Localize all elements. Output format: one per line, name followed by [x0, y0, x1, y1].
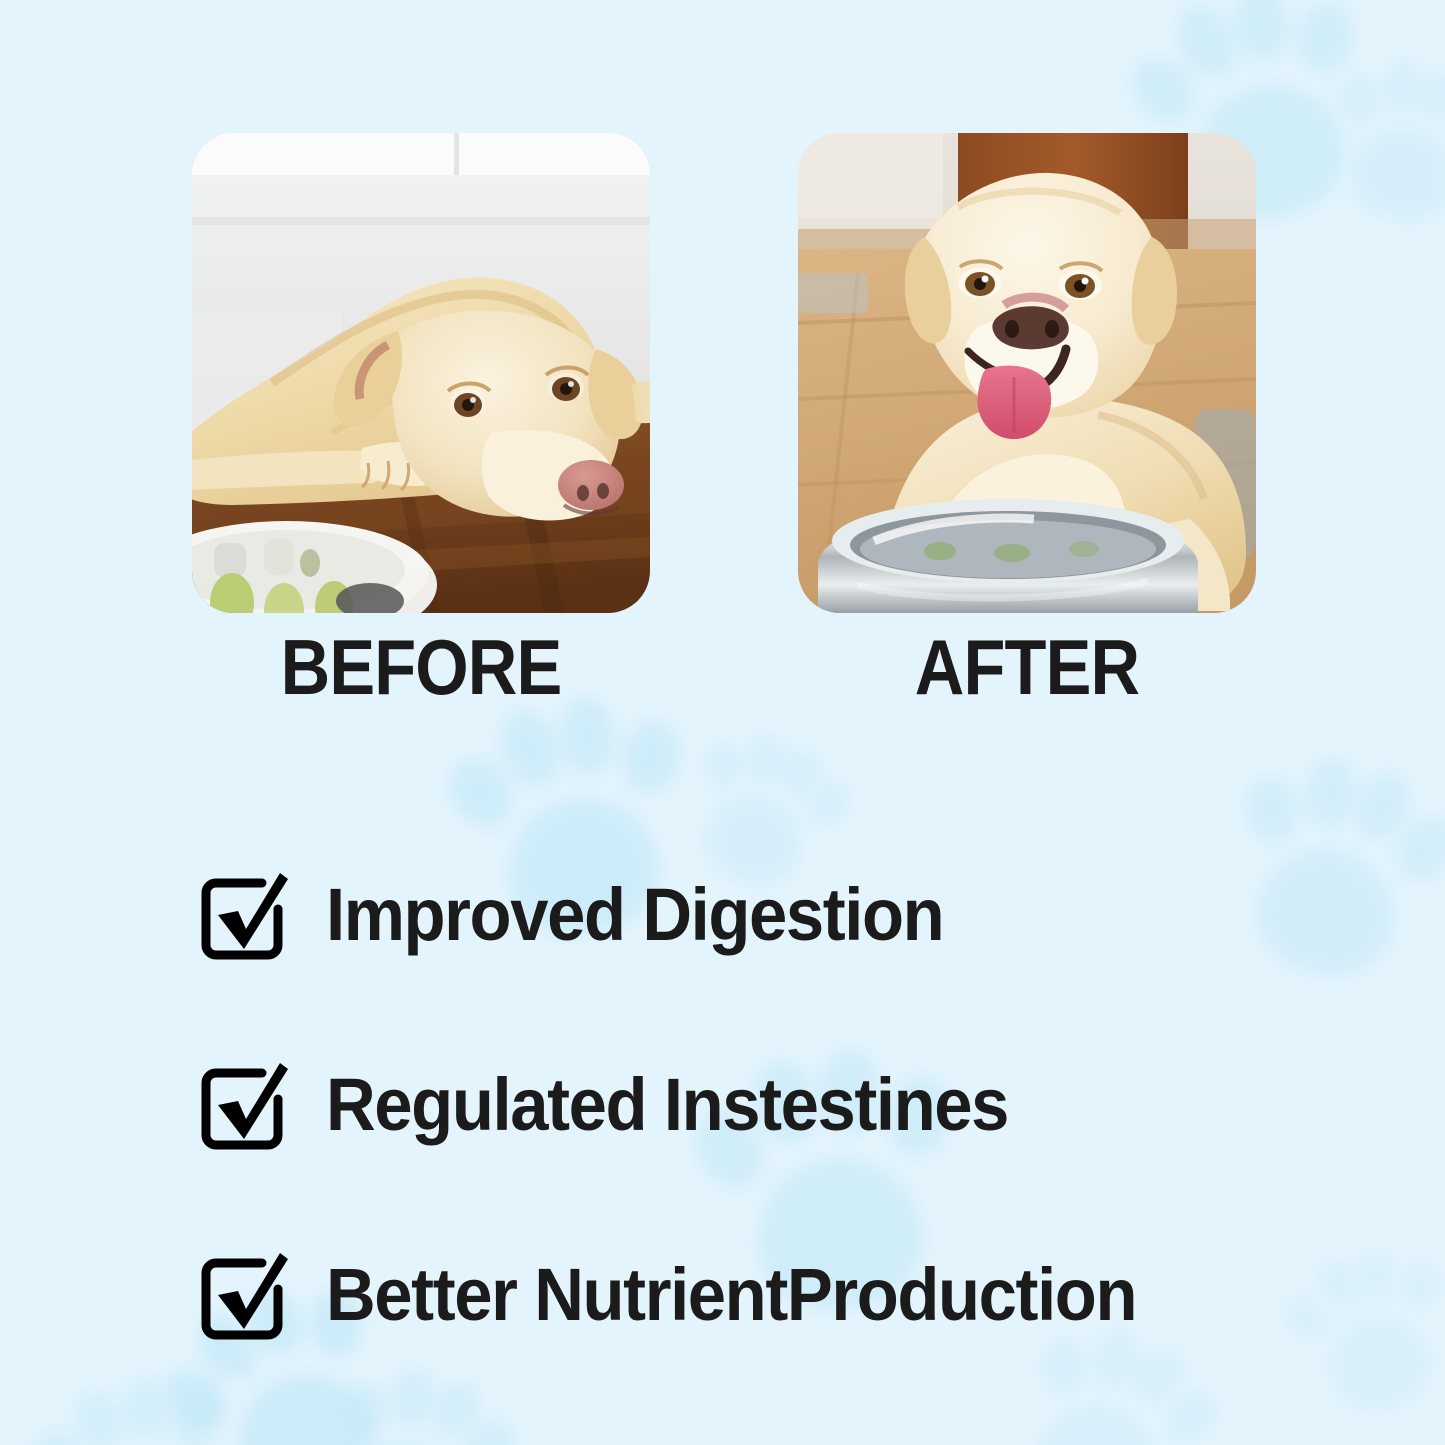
benefit-label: Regulated Instestines: [326, 1068, 1008, 1142]
benefit-label: Improved Digestion: [326, 878, 943, 952]
after-caption: AFTER: [825, 628, 1228, 706]
benefits-list: Improved Digestion Regulated Instestines…: [192, 820, 1372, 1390]
list-item: Regulated Instestines: [192, 1010, 1372, 1200]
before-caption: BEFORE: [219, 628, 622, 706]
list-item: Improved Digestion: [192, 820, 1372, 1010]
dog-photo-sad-illustration: [192, 133, 650, 613]
benefit-label: Better NutrientProduction: [326, 1258, 1136, 1332]
promo-content: BEFORE AFTER Improved Digestion Regulate…: [0, 0, 1445, 1445]
before-after-photo-row: [0, 133, 1445, 613]
after-photo: [798, 133, 1256, 613]
checkbox-checked-icon: [192, 867, 292, 967]
checkbox-checked-icon: [192, 1247, 292, 1347]
steel-bowl: [818, 499, 1198, 613]
list-item: Better NutrientProduction: [192, 1200, 1372, 1390]
checkbox-checked-icon: [192, 1057, 292, 1157]
before-photo: [192, 133, 650, 613]
dog-photo-happy-illustration: [798, 133, 1256, 613]
